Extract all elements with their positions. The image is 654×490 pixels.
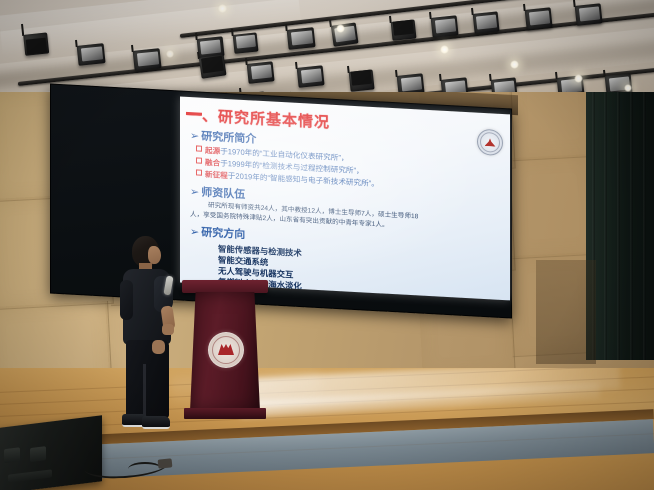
- presentation-slide: 一、研究所基本情况 ➢研究所简介 起源于1970年的“工业自动化仪表研究所”， …: [180, 97, 510, 301]
- ceiling-downlight: [218, 4, 227, 13]
- presenter-arm-far: [120, 280, 133, 320]
- slide-title-text: 研究所基本情况: [218, 109, 330, 132]
- ceiling-downlight: [440, 45, 449, 54]
- slide-heading-intro: ➢研究所简介: [190, 127, 256, 147]
- presenter-hand-lower: [152, 340, 165, 354]
- lecture-hall-photo: 一、研究所基本情况 ➢研究所简介 起源于1970年的“工业自动化仪表研究所”， …: [0, 0, 654, 490]
- slide-heading-faculty: ➢师资队伍: [190, 183, 245, 202]
- square-bullet-icon: [196, 169, 202, 175]
- power-cable: [128, 462, 162, 476]
- university-crest-seal-icon: [208, 332, 244, 368]
- arrow-bullet-icon: ➢: [190, 226, 199, 238]
- presenter: [118, 236, 180, 428]
- institute-logo-icon: [477, 129, 503, 156]
- ceiling-downlight: [166, 50, 174, 58]
- cable-plug: [158, 458, 173, 468]
- square-bullet-icon: [196, 145, 202, 151]
- lectern-top: [182, 280, 268, 293]
- presenter-shoe: [142, 416, 170, 429]
- square-bullet-icon: [196, 157, 202, 163]
- lectern: [186, 280, 264, 425]
- arrow-bullet-icon: ➢: [190, 130, 199, 142]
- presenter-face: [148, 246, 161, 264]
- ceiling-downlight: [574, 74, 583, 83]
- ceiling-downlight: [510, 60, 519, 69]
- lectern-base: [184, 408, 266, 419]
- presenter-hand-mic: [162, 324, 174, 335]
- slide-number-prefix: 一、: [186, 107, 218, 126]
- slide-heading-directions: ➢研究方向: [190, 223, 245, 242]
- ceiling-downlight: [624, 84, 632, 92]
- arrow-bullet-icon: ➢: [190, 186, 199, 198]
- stage-curtain: [586, 92, 654, 360]
- ceiling-downlight: [336, 24, 345, 33]
